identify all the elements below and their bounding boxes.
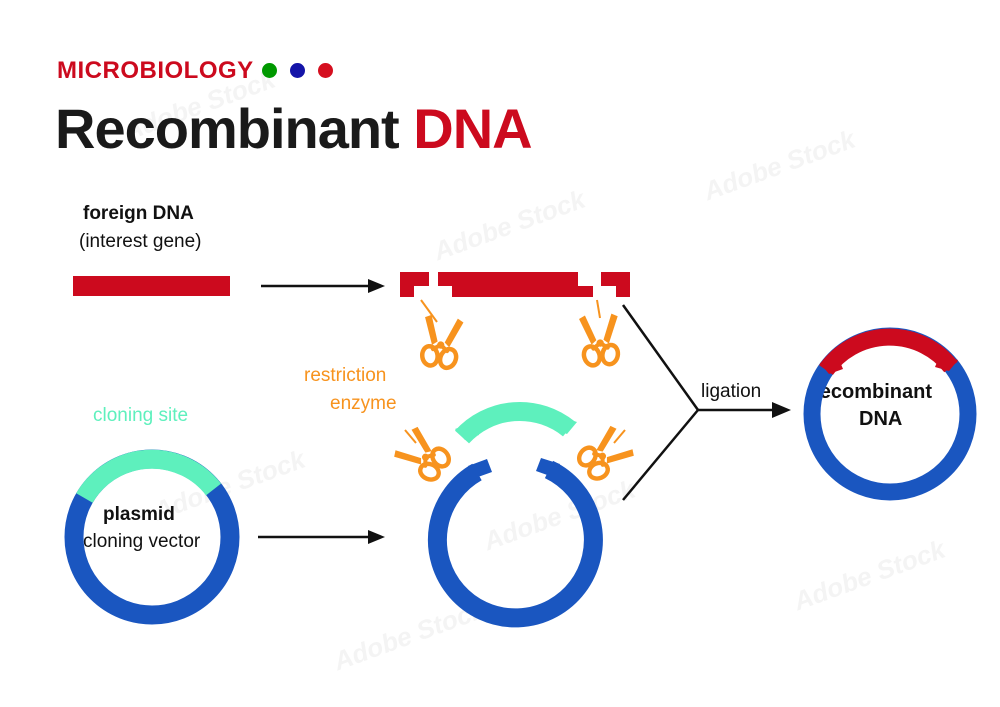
cut-plasmid (437, 411, 593, 617)
plasmid-circle (74, 459, 230, 615)
scissors-icon-bottom-right (572, 424, 636, 485)
cut-dna-fragments (400, 272, 630, 297)
diagram-svg (0, 0, 1000, 707)
scissors-icon-top-left (418, 314, 464, 371)
scissors-icon-bottom-left (392, 425, 456, 486)
ligation-merge-arrow (623, 305, 791, 500)
arrow-foreign-to-cut (261, 279, 385, 293)
leader-line-cut-4 (614, 430, 625, 443)
leader-line-cut-2 (597, 300, 600, 318)
foreign-dna-bar (73, 276, 230, 296)
illustration-canvas: Adobe Stock Adobe Stock Adobe Stock Adob… (0, 0, 1000, 707)
arrow-plasmid-to-cut (258, 530, 385, 544)
recombinant-circle (812, 336, 968, 492)
scissors-icon-top-right (579, 313, 621, 368)
